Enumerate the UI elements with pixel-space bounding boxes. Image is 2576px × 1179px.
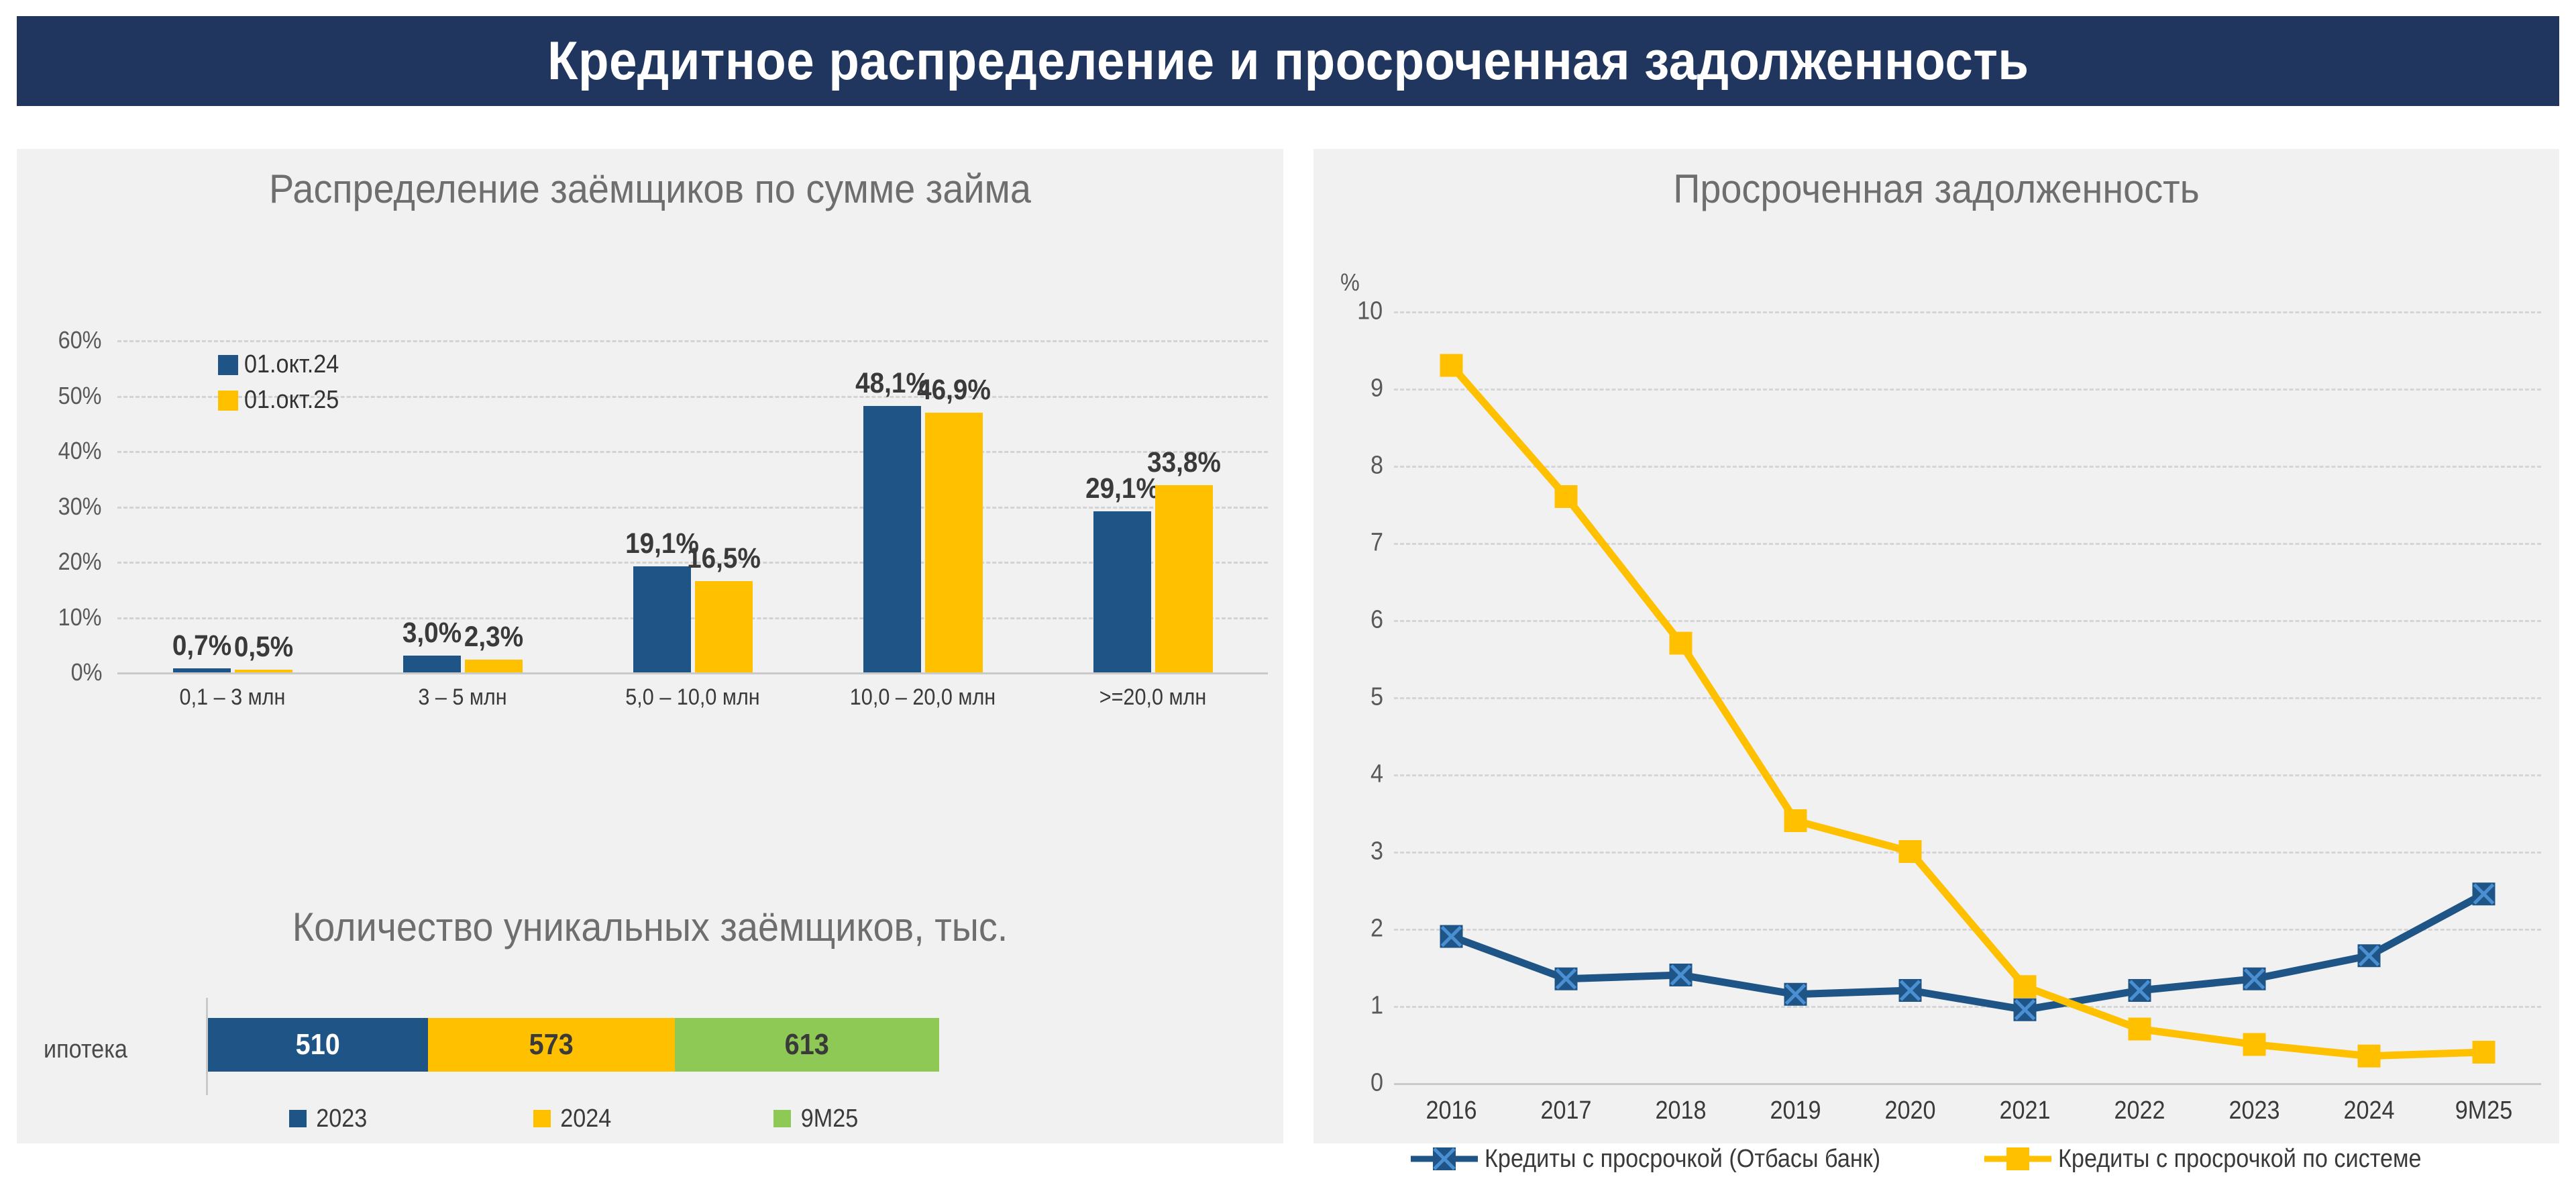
bar-chart-y-tick: 30% xyxy=(58,493,102,521)
data-point-marker[interactable] xyxy=(1899,840,1922,863)
bar-chart-category-label: 0,1 – 3 млн xyxy=(129,684,336,711)
legend-label-2024: 2024 xyxy=(560,1105,611,1133)
legend-marker-icon-otbasy xyxy=(1411,1145,1478,1172)
line-chart-plot xyxy=(1394,311,2541,1083)
bar-01.окт.24[interactable]: 19,1% xyxy=(633,566,691,672)
line-chart-x-axis-line xyxy=(1394,1083,2541,1085)
data-point-marker[interactable] xyxy=(2358,1045,2381,1068)
page-title: Кредитное распределение и просроченная з… xyxy=(547,30,2029,93)
stacked-chart-title: Количество уникальных заёмщиков, тыс. xyxy=(61,904,1239,950)
legend-swatch-icon-9М25 xyxy=(773,1110,791,1127)
legend-item-01okt24[interactable]: 01.окт.24 xyxy=(218,350,350,379)
line-chart-title: Просроченная задолженность xyxy=(1357,166,2516,212)
bar-chart-y-tick: 10% xyxy=(58,603,102,631)
line-chart-x-tick: 2021 xyxy=(1974,1096,2077,1125)
legend-label-9М25: 9М25 xyxy=(801,1105,859,1133)
bar-value-label: 46,9% xyxy=(917,374,991,407)
line-chart-x-tick: 2020 xyxy=(1859,1096,1962,1125)
bar-value-label: 2,3% xyxy=(464,621,523,654)
bar-01.окт.24[interactable]: 3,0% xyxy=(403,656,461,672)
line-chart-x-tick: 9М25 xyxy=(2432,1096,2536,1125)
legend-item-01okt25[interactable]: 01.окт.25 xyxy=(218,386,350,415)
bar-01.окт.24[interactable]: 48,1% xyxy=(863,406,921,672)
line-chart-y-tick: 8 xyxy=(1371,452,1383,480)
legend-label-01okt25: 01.окт.25 xyxy=(244,386,339,415)
bar-01.окт.25[interactable]: 16,5% xyxy=(695,581,753,672)
line-chart-x-tick: 2022 xyxy=(2088,1096,2192,1125)
bar-01.окт.25[interactable]: 2,3% xyxy=(465,660,523,672)
data-point-marker[interactable] xyxy=(2473,1041,2495,1064)
legend-swatch-icon-01okt25 xyxy=(218,391,238,411)
right-panel: Просроченная задолженность % 01234567891… xyxy=(1313,149,2559,1143)
data-point-marker[interactable] xyxy=(2243,1033,2266,1056)
line-chart-legend: Кредиты с просрочкой (Отбасы банк) Креди… xyxy=(1313,1139,2559,1179)
bar-group: 19,1%16,5% xyxy=(578,340,808,672)
bar-chart-title: Распределение заёмщиков по сумме займа xyxy=(61,166,1239,212)
data-point-marker[interactable] xyxy=(1440,354,1463,377)
legend-label-01okt24: 01.окт.24 xyxy=(244,350,339,379)
line-series-Кредиты с просрочкой (Отбасы банк) xyxy=(1452,894,2484,1010)
line-chart-y-tick: 7 xyxy=(1371,529,1383,558)
bar-chart-y-tick: 20% xyxy=(58,548,102,576)
legend-label-otbasy: Кредиты с просрочкой (Отбасы банк) xyxy=(1485,1145,1880,1174)
line-chart-x-labels: 2016201720182019202020212022202320249М25 xyxy=(1394,1096,2541,1137)
data-point-marker[interactable] xyxy=(1670,632,1693,655)
left-panel: Распределение заёмщиков по сумме займа 0… xyxy=(17,149,1283,1143)
bar-value-label: 3,0% xyxy=(402,617,461,650)
line-chart-y-tick: 6 xyxy=(1371,606,1383,635)
line-chart-y-tick: 2 xyxy=(1371,915,1383,943)
stacked-legend-item-9М25[interactable]: 9М25 xyxy=(696,1098,939,1139)
data-point-marker[interactable] xyxy=(2129,1018,2151,1041)
bar-chart-legend: 01.окт.24 01.окт.25 xyxy=(218,350,350,421)
stacked-segment-value: 613 xyxy=(785,1028,829,1062)
line-chart-y-tick: 9 xyxy=(1371,374,1383,403)
bar-chart-y-tick: 60% xyxy=(58,326,102,354)
legend-item-otbasy[interactable]: Кредиты с просрочкой (Отбасы банк) xyxy=(1411,1145,1925,1174)
line-chart-y-tick: 10 xyxy=(1357,297,1383,326)
data-point-marker[interactable] xyxy=(1555,485,1578,508)
bar-group: 48,1%46,9% xyxy=(808,340,1038,672)
bar-value-label: 33,8% xyxy=(1147,446,1221,479)
line-chart-y-tick: 0 xyxy=(1371,1069,1383,1098)
stacked-segment-value: 573 xyxy=(529,1028,574,1062)
data-point-marker[interactable] xyxy=(1784,809,1807,832)
bar-value-label: 0,7% xyxy=(172,629,231,662)
bar-value-label: 16,5% xyxy=(687,542,761,575)
stacked-row-label: ипотека xyxy=(44,1035,127,1064)
bar-chart-category-label: 3 – 5 млн xyxy=(359,684,566,711)
stacked-legend-item-2024[interactable]: 2024 xyxy=(451,1098,695,1139)
bar-chart-category-label: 5,0 – 10,0 млн xyxy=(589,684,796,711)
borrower-distribution-chart: 0%10%20%30%40%50%60% 0,7%0,5%3,0%2,3%19,… xyxy=(17,229,1283,941)
line-chart-y-tick: 4 xyxy=(1371,760,1383,789)
line-series-Кредиты с просрочкой по системе xyxy=(1452,366,2484,1056)
legend-swatch-icon-2024 xyxy=(533,1110,551,1127)
bar-chart-category-label: >=20,0 млн xyxy=(1049,684,1256,711)
bar-01.окт.25[interactable]: 33,8% xyxy=(1155,485,1213,672)
bar-01.окт.25[interactable]: 46,9% xyxy=(925,413,983,672)
bar-chart-y-axis: 0%10%20%30%40%50%60% xyxy=(30,340,104,672)
legend-item-system[interactable]: Кредиты с просрочкой по системе xyxy=(1984,1145,2462,1174)
line-chart-y-tick: 1 xyxy=(1371,992,1383,1021)
line-chart-y-tick: 5 xyxy=(1371,683,1383,712)
stacked-chart-legend: 202320249М25 xyxy=(208,1098,939,1139)
bar-group: 3,0%2,3% xyxy=(347,340,578,672)
bar-chart-category-label: 10,0 – 20,0 млн xyxy=(819,684,1026,711)
data-point-marker[interactable] xyxy=(2014,975,2037,998)
legend-label-system: Кредиты с просрочкой по системе xyxy=(2058,1145,2422,1174)
bar-chart-y-tick: 40% xyxy=(58,437,102,465)
legend-label-2023: 2023 xyxy=(317,1105,368,1133)
bar-value-label: 0,5% xyxy=(233,631,292,664)
overdue-loans-chart: % 012345678910 2016201720182019202020212… xyxy=(1313,229,2559,1142)
legend-marker-icon-system xyxy=(1984,1145,2051,1172)
line-chart-y-tick: 3 xyxy=(1371,837,1383,866)
line-chart-y-axis: 012345678910 xyxy=(1320,311,1384,1083)
line-chart-x-tick: 2016 xyxy=(1400,1096,1503,1125)
stacked-segment-2023[interactable]: 510 xyxy=(208,1018,428,1072)
line-chart-x-tick: 2019 xyxy=(1744,1096,1847,1125)
unique-borrowers-chart: Количество уникальных заёмщиков, тыс. ип… xyxy=(17,978,1283,1142)
bar-chart-y-tick: 50% xyxy=(58,382,102,410)
stacked-segment-9М25[interactable]: 613 xyxy=(675,1018,939,1072)
legend-swatch-icon-2023 xyxy=(289,1110,307,1127)
line-chart-x-tick: 2017 xyxy=(1515,1096,1618,1125)
line-chart-x-tick: 2024 xyxy=(2318,1096,2421,1125)
bar-group: 29,1%33,8% xyxy=(1038,340,1268,672)
bar-chart-y-tick: 0% xyxy=(71,658,103,686)
header-bar: Кредитное распределение и просроченная з… xyxy=(17,16,2559,106)
stacked-legend-item-2023[interactable]: 2023 xyxy=(208,1098,451,1139)
stacked-segment-2024[interactable]: 573 xyxy=(428,1018,675,1072)
bar-chart-category-labels: 0,1 – 3 млн3 – 5 млн5,0 – 10,0 млн10,0 –… xyxy=(117,684,1268,725)
bar-chart-x-axis-line xyxy=(117,672,1268,674)
line-chart-x-tick: 2023 xyxy=(2203,1096,2306,1125)
legend-swatch-icon-01okt24 xyxy=(218,355,238,375)
line-chart-x-tick: 2018 xyxy=(1629,1096,1733,1125)
line-chart-y-unit: % xyxy=(1340,268,1360,297)
stacked-segment-value: 510 xyxy=(296,1028,340,1062)
bar-01.окт.24[interactable]: 29,1% xyxy=(1093,511,1151,672)
stacked-bar: 510573613 xyxy=(208,1018,939,1072)
